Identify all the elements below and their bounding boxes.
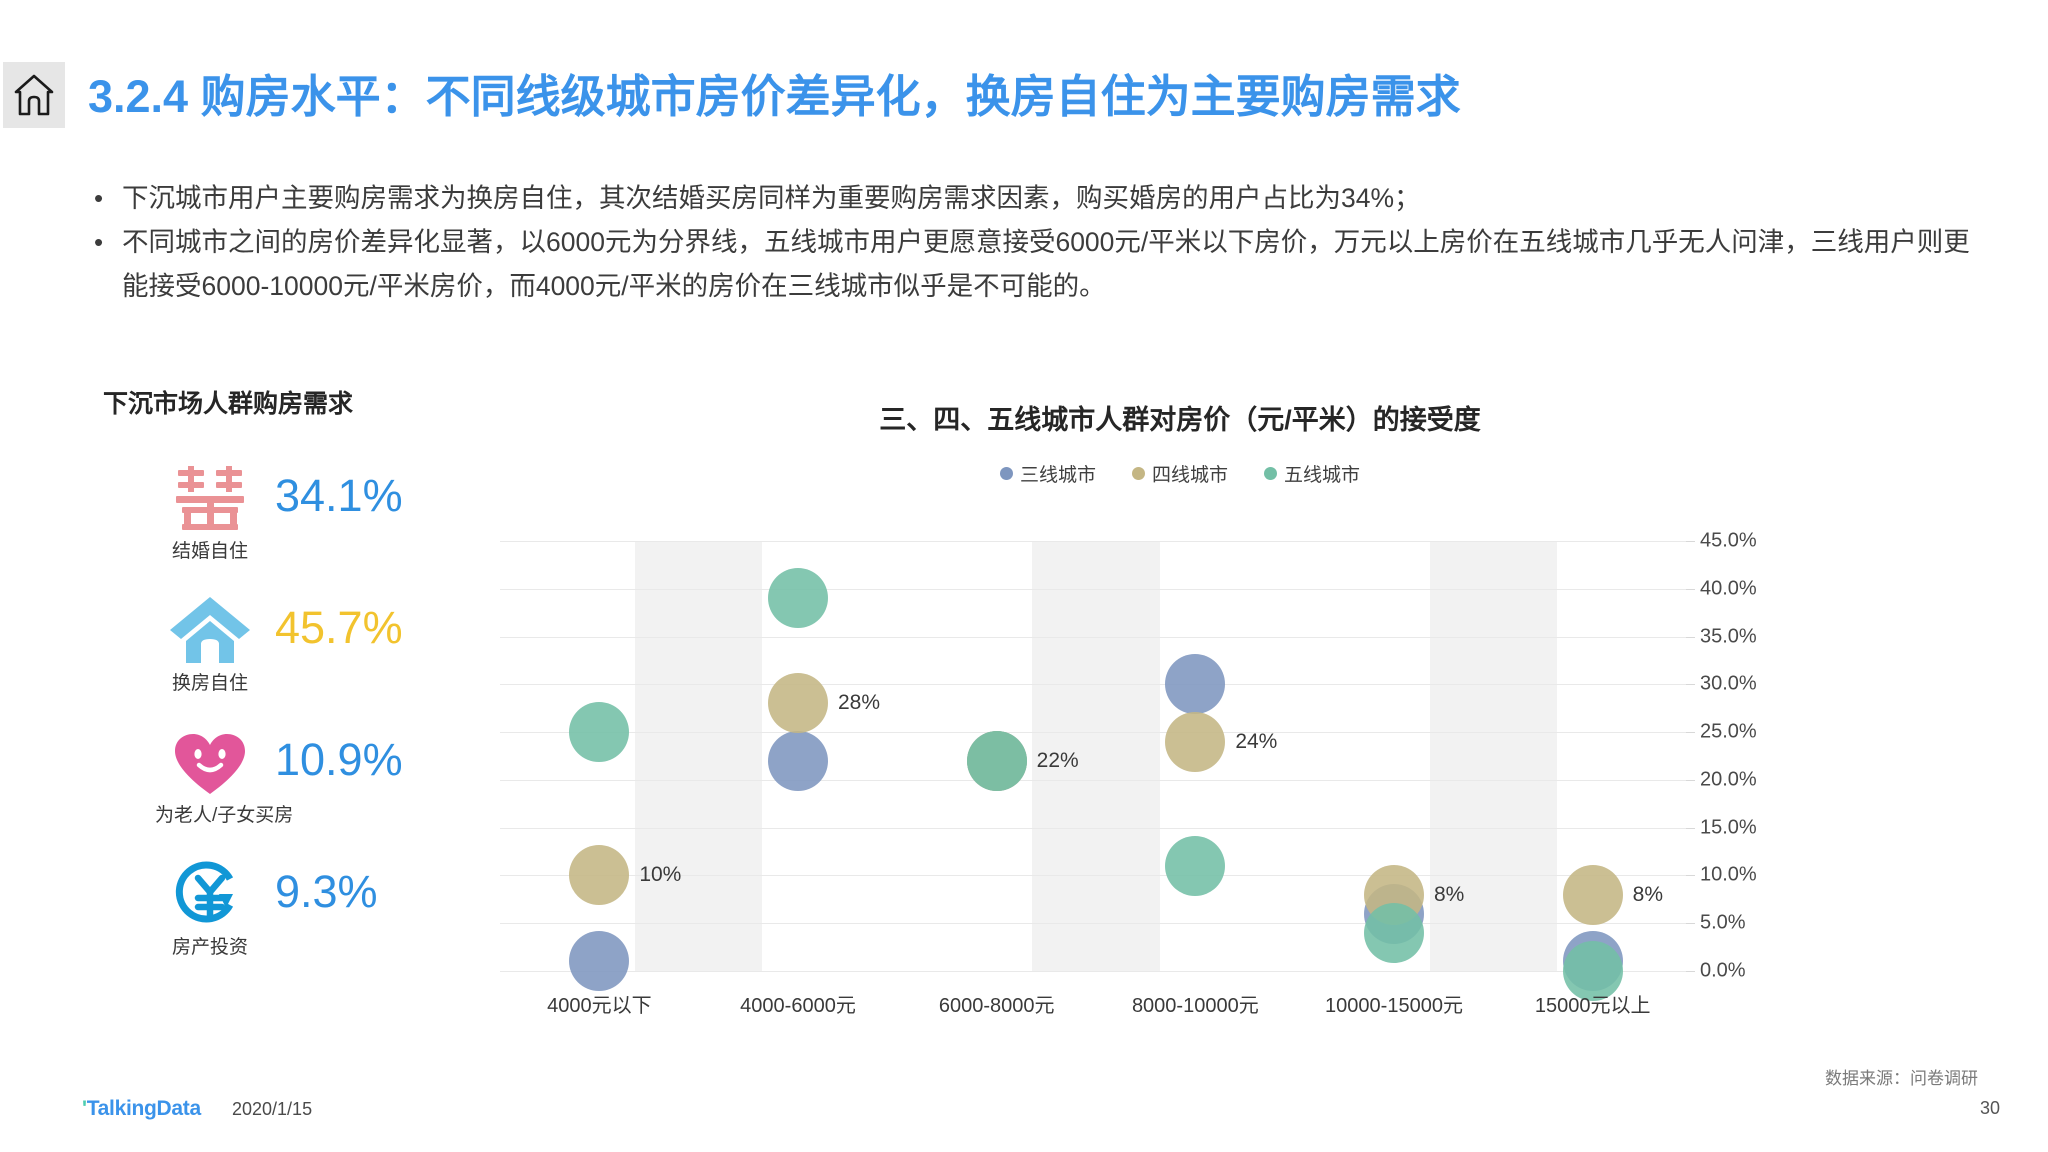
gridline — [500, 589, 1692, 590]
gridline — [500, 923, 1692, 924]
gridline — [500, 732, 1692, 733]
talkingdata-logo: 'TalkingData — [82, 1097, 201, 1121]
double-happiness-icon — [155, 456, 265, 534]
footer-date: 2020/1/15 — [232, 1099, 312, 1120]
heart-smile-icon — [155, 720, 265, 798]
need-value: 10.9% — [275, 734, 403, 786]
chart-bubble[interactable] — [569, 845, 629, 905]
legend-swatch-icon — [1000, 467, 1013, 480]
chart-title: 三、四、五线城市人群对房价（元/平米）的接受度 — [600, 398, 1760, 437]
y-tick-mark — [1686, 732, 1695, 733]
gridline — [500, 828, 1692, 829]
y-axis-tick-label: 30.0% — [1700, 673, 1757, 696]
gridline — [500, 780, 1692, 781]
need-icon-wrap: 房产投资 — [155, 852, 265, 959]
y-tick-mark — [1686, 828, 1695, 829]
bullet-dot: • — [94, 220, 103, 264]
gridline — [500, 637, 1692, 638]
y-axis-tick-label: 5.0% — [1700, 912, 1746, 935]
y-tick-mark — [1686, 971, 1695, 972]
y-tick-mark — [1686, 541, 1695, 542]
need-icon-wrap: 为老人/子女买房 — [155, 720, 265, 827]
y-axis-tick-label: 45.0% — [1700, 530, 1757, 553]
y-axis-tick-label: 20.0% — [1700, 768, 1757, 791]
need-value: 45.7% — [275, 602, 403, 654]
bullet-list: • 下沉城市用户主要购房需求为换房自住，其次结婚买房同样为重要购房需求因素，购买… — [80, 176, 1980, 308]
legend-item[interactable]: 五线城市 — [1264, 460, 1360, 487]
data-point-label: 8% — [1633, 883, 1663, 907]
page-title: 3.2.4 购房水平：不同线级城市房价差异化，换房自住为主要购房需求 — [88, 60, 1461, 125]
gridline — [500, 971, 1692, 972]
housing-need-panel: 下沉市场人群购房需求 — [60, 384, 440, 984]
y-tick-mark — [1686, 923, 1695, 924]
y-axis-tick-label: 15.0% — [1700, 816, 1757, 839]
x-axis-tick-label: 4000-6000元 — [740, 989, 856, 1018]
data-point-label: 8% — [1434, 883, 1464, 907]
y-axis-tick-label: 0.0% — [1700, 960, 1746, 983]
legend-swatch-icon — [1132, 467, 1145, 480]
data-point-label: 24% — [1235, 730, 1277, 754]
home-icon-glyph — [13, 72, 55, 118]
house-icon — [155, 588, 265, 666]
bubble-chart-plot: 45.0%40.0%35.0%30.0%25.0%20.0%15.0%10.0%… — [500, 541, 1692, 971]
chart-bubble[interactable] — [1563, 865, 1623, 925]
panel-title: 下沉市场人群购房需求 — [78, 384, 378, 420]
chart-bubble[interactable] — [768, 731, 828, 791]
need-icon-wrap: 换房自住 — [155, 588, 265, 695]
source-note: 数据来源：问卷调研 — [1825, 1064, 1978, 1089]
yuan-investment-icon — [155, 852, 265, 930]
y-tick-mark — [1686, 589, 1695, 590]
need-row-marriage[interactable]: 结婚自住 34.1% — [60, 456, 440, 588]
chart-bubble[interactable] — [1364, 903, 1424, 963]
chart-bubble[interactable] — [569, 702, 629, 762]
x-axis-tick-label: 6000-8000元 — [939, 989, 1055, 1018]
y-tick-mark — [1686, 684, 1695, 685]
need-icon-wrap: 结婚自住 — [155, 456, 265, 563]
x-axis-tick-label: 4000元以下 — [547, 989, 652, 1018]
legend-item[interactable]: 四线城市 — [1132, 460, 1228, 487]
chart-bubble[interactable] — [569, 931, 629, 991]
column-band — [635, 541, 762, 971]
data-point-label: 28% — [838, 691, 880, 715]
bullet-text: 不同城市之间的房价差异化显著，以6000元为分界线，五线城市用户更愿意接受600… — [122, 227, 1970, 301]
legend-label: 五线城市 — [1284, 460, 1360, 487]
chart-bubble[interactable] — [1165, 836, 1225, 896]
chart-bubble[interactable] — [768, 568, 828, 628]
x-axis-tick-label: 8000-10000元 — [1132, 989, 1259, 1018]
gridline — [500, 541, 1692, 542]
need-row-upgrade[interactable]: 换房自住 45.7% — [60, 588, 440, 720]
bullet-dot: • — [94, 176, 103, 220]
home-icon[interactable] — [3, 62, 65, 128]
need-value: 9.3% — [275, 866, 378, 918]
need-label: 结婚自住 — [155, 536, 265, 563]
bullet-item: • 不同城市之间的房价差异化显著，以6000元为分界线，五线城市用户更愿意接受6… — [80, 220, 1980, 308]
need-value: 34.1% — [275, 470, 403, 522]
chart-legend: 三线城市四线城市五线城市 — [600, 460, 1760, 487]
legend-item[interactable]: 三线城市 — [1000, 460, 1096, 487]
chart-bubble[interactable] — [967, 731, 1027, 791]
chart-bubble[interactable] — [768, 673, 828, 733]
legend-swatch-icon — [1264, 467, 1277, 480]
need-row-investment[interactable]: 房产投资 9.3% — [60, 852, 440, 984]
data-point-label: 10% — [639, 863, 681, 887]
chart-bubble[interactable] — [1165, 654, 1225, 714]
y-axis-tick-label: 40.0% — [1700, 577, 1757, 600]
logo-text: TalkingData — [87, 1097, 201, 1120]
need-row-family[interactable]: 为老人/子女买房 10.9% — [60, 720, 440, 852]
y-axis-tick-label: 35.0% — [1700, 625, 1757, 648]
y-tick-mark — [1686, 780, 1695, 781]
data-point-label: 22% — [1037, 749, 1079, 773]
chart-bubble[interactable] — [1165, 712, 1225, 772]
bullet-item: • 下沉城市用户主要购房需求为换房自住，其次结婚买房同样为重要购房需求因素，购买… — [80, 176, 1980, 220]
need-label: 为老人/子女买房 — [155, 800, 265, 827]
slide-header: 3.2.4 购房水平：不同线级城市房价差异化，换房自住为主要购房需求 — [0, 62, 2048, 130]
gridline — [500, 684, 1692, 685]
legend-label: 四线城市 — [1152, 460, 1228, 487]
y-axis-tick-label: 10.0% — [1700, 864, 1757, 887]
x-axis-tick-label: 15000元以上 — [1535, 989, 1651, 1018]
y-tick-mark — [1686, 875, 1695, 876]
x-axis-tick-label: 10000-15000元 — [1325, 989, 1463, 1018]
need-label: 换房自住 — [155, 668, 265, 695]
y-axis-tick-label: 25.0% — [1700, 721, 1757, 744]
y-tick-mark — [1686, 637, 1695, 638]
need-label: 房产投资 — [155, 932, 265, 959]
legend-label: 三线城市 — [1020, 460, 1096, 487]
page-number: 30 — [1980, 1098, 2000, 1119]
bullet-text: 下沉城市用户主要购房需求为换房自住，其次结婚买房同样为重要购房需求因素，购买婚房… — [122, 183, 1421, 213]
